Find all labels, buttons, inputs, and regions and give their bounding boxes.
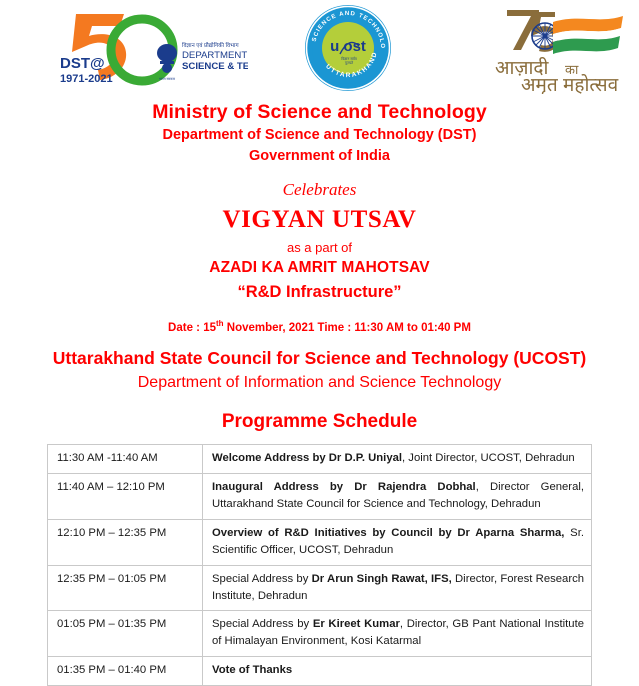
ministry-title: Ministry of Science and Technology bbox=[0, 100, 639, 125]
theme-title: “R&D Infrastructure” bbox=[0, 280, 639, 305]
schedule-time-cell: 01:05 PM – 01:35 PM bbox=[48, 611, 203, 657]
date-day: 15 bbox=[203, 322, 216, 334]
schedule-description-cell: Special Address by Er Kireet Kumar, Dire… bbox=[203, 611, 592, 657]
schedule-description-cell: Overview of R&D Initiatives by Council b… bbox=[203, 519, 592, 565]
schedule-desc-highlight: Inaugural Address by Dr Rajendra Dobhal bbox=[212, 481, 476, 493]
table-row: 12:10 PM – 12:35 PMOverview of R&D Initi… bbox=[48, 519, 592, 565]
schedule-time-cell: 11:30 AM -11:40 AM bbox=[48, 444, 203, 473]
as-a-part-of-label: as a part of bbox=[0, 239, 639, 257]
schedule-desc-rest: , Joint Director, UCOST, Dehradun bbox=[402, 452, 575, 464]
schedule-table: 11:30 AM -11:40 AMWelcome Address by Dr … bbox=[47, 444, 592, 686]
date-ordinal: th bbox=[216, 319, 224, 328]
schedule-table-body: 11:30 AM -11:40 AMWelcome Address by Dr … bbox=[48, 444, 592, 685]
time-text: Time : 11:30 AM to 01:40 PM bbox=[314, 322, 471, 334]
svg-text:SCIENCE & TECHNOLOGY: SCIENCE & TECHNOLOGY bbox=[182, 61, 248, 72]
schedule-description-cell: Inaugural Address by Dr Rajendra Dobhal,… bbox=[203, 473, 592, 519]
schedule-desc-highlight: Vote of Thanks bbox=[212, 664, 292, 676]
heading-block: Ministry of Science and Technology Depar… bbox=[0, 100, 639, 435]
svg-text:1971-2021: 1971-2021 bbox=[60, 73, 113, 85]
svg-text:पूज्यते: पूज्यते bbox=[345, 60, 354, 65]
table-row: 12:35 PM – 01:05 PMSpecial Address by Dr… bbox=[48, 565, 592, 611]
dst-50-logo: DST@ 1971-2021 भारत सरकार विज्ञान एवं प्… bbox=[58, 8, 248, 92]
table-row: 11:40 AM – 12:10 PMInaugural Address by … bbox=[48, 473, 592, 519]
date-label: Date : bbox=[168, 322, 203, 334]
host-department-title: Department of Information and Science Te… bbox=[0, 371, 639, 394]
schedule-time-cell: 11:40 AM – 12:10 PM bbox=[48, 473, 203, 519]
schedule-description-cell: Special Address by Dr Arun Singh Rawat, … bbox=[203, 565, 592, 611]
svg-text:DEPARTMENT OF: DEPARTMENT OF bbox=[182, 50, 248, 61]
government-title: Government of India bbox=[0, 146, 639, 167]
schedule-desc-highlight: Dr Arun Singh Rawat, IFS, bbox=[312, 573, 452, 585]
svg-text:DST@: DST@ bbox=[60, 55, 105, 72]
azadi-ka-amrit-mahotsav-logo: आज़ादी का अमृत महोत्सव bbox=[487, 2, 632, 94]
schedule-desc-prefix: Special Address by bbox=[212, 573, 312, 585]
schedule-desc-highlight: Er Kireet Kumar bbox=[313, 618, 400, 630]
schedule-table-wrapper: 11:30 AM -11:40 AMWelcome Address by Dr … bbox=[47, 444, 592, 686]
date-rest: November, 2021 bbox=[224, 322, 315, 334]
ucost-logo: SCIENCE AND TECHNOLOGY COUNCIL UTTARAKHA… bbox=[303, 2, 393, 94]
celebrates-label: Celebrates bbox=[0, 179, 639, 201]
table-row: 11:30 AM -11:40 AMWelcome Address by Dr … bbox=[48, 444, 592, 473]
logo-strip: DST@ 1971-2021 भारत सरकार विज्ञान एवं प्… bbox=[0, 0, 639, 96]
date-time-line: Date : 15th November, 2021 Time : 11:30 … bbox=[0, 318, 639, 336]
event-title: VIGYAN UTSAV bbox=[0, 205, 639, 235]
schedule-description-cell: Vote of Thanks bbox=[203, 657, 592, 686]
schedule-desc-highlight: Overview of R&D Initiatives by Council b… bbox=[212, 527, 564, 539]
department-title: Department of Science and Technology (DS… bbox=[0, 125, 639, 146]
campaign-title: AZADI KA AMRIT MAHOTSAV bbox=[0, 257, 639, 279]
table-row: 01:05 PM – 01:35 PMSpecial Address by Er… bbox=[48, 611, 592, 657]
host-council-title: Uttarakhand State Council for Science an… bbox=[0, 347, 639, 371]
svg-text:अमृत महोत्सव: अमृत महोत्सव bbox=[521, 73, 619, 94]
schedule-time-cell: 12:35 PM – 01:05 PM bbox=[48, 565, 203, 611]
table-row: 01:35 PM – 01:40 PMVote of Thanks bbox=[48, 657, 592, 686]
schedule-time-cell: 01:35 PM – 01:40 PM bbox=[48, 657, 203, 686]
schedule-desc-highlight: Welcome Address by Dr D.P. Uniyal bbox=[212, 452, 402, 464]
svg-text:विज्ञान एवं प्रौद्योगिकी विभाग: विज्ञान एवं प्रौद्योगिकी विभाग bbox=[182, 41, 239, 49]
svg-text:भारत सरकार: भारत सरकार bbox=[159, 77, 176, 81]
schedule-description-cell: Welcome Address by Dr D.P. Uniyal, Joint… bbox=[203, 444, 592, 473]
schedule-title: Programme Schedule bbox=[0, 410, 639, 435]
svg-text:u ost: u ost bbox=[330, 38, 366, 55]
schedule-desc-prefix: Special Address by bbox=[212, 618, 313, 630]
schedule-time-cell: 12:10 PM – 12:35 PM bbox=[48, 519, 203, 565]
